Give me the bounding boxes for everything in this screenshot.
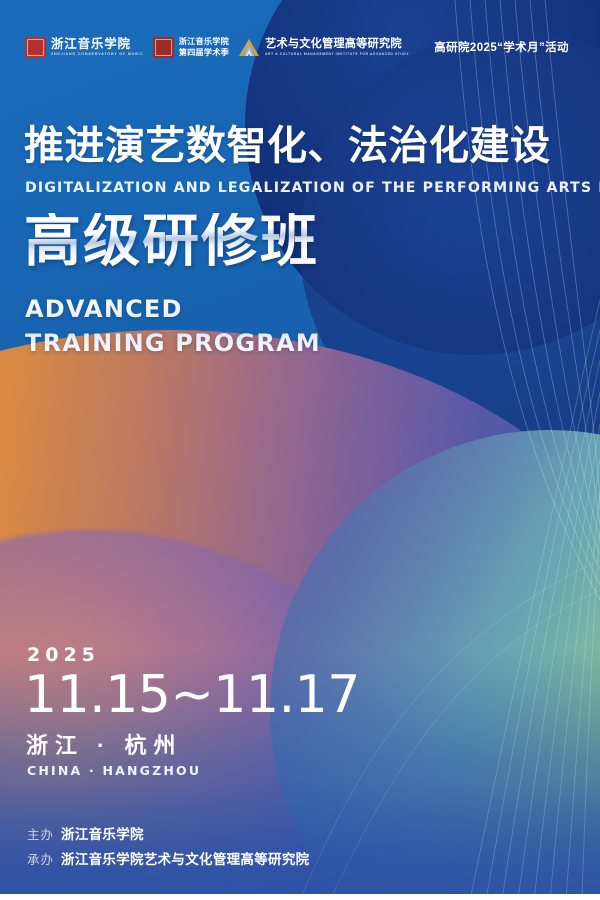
page-subtitle-en-line2: TRAINING PROGRAM (25, 326, 321, 360)
organizer-role: 主办 (27, 824, 54, 843)
poster-canvas: 浙江音乐学院 ZHEJIANG CONSERVATORY OF MUSIC 浙江… (0, 0, 600, 900)
seal-stamp-icon (153, 37, 174, 58)
logo-art-culture-institute-cn: 艺术与文化管理高等研究院 (265, 38, 409, 50)
triangle-arch-icon (238, 38, 260, 57)
logo-fourth-academic-season: 浙江音乐学院 第四届学术季 (153, 36, 229, 58)
event-city-en: CHINA · HANGZHOU (27, 765, 201, 778)
bottom-white-margin (0, 894, 600, 900)
logo-fourth-academic-season-line1: 浙江音乐学院 (179, 36, 229, 47)
logo-zhejiang-conservatory: 浙江音乐学院 ZHEJIANG CONSERVATORY OF MUSIC (25, 37, 144, 58)
page-subtitle-cn: 高级研修班 (24, 213, 319, 270)
page-subtitle-en: ADVANCED TRAINING PROGRAM (25, 292, 321, 360)
page-subtitle-en-line1: ADVANCED (25, 292, 321, 326)
page-title-cn: 推进演艺数智化、法治化建设 (24, 126, 551, 166)
organizer-row: 主办 浙江音乐学院 (27, 823, 309, 843)
logo-art-culture-institute: 艺术与文化管理高等研究院 ART & CULTURAL MANAGEMENT I… (238, 38, 409, 57)
poster-content: 浙江音乐学院 ZHEJIANG CONSERVATORY OF MUSIC 浙江… (0, 0, 600, 900)
logo-fourth-academic-season-line2: 第四届学术季 (179, 47, 229, 58)
organizer-name: 浙江音乐学院艺术与文化管理高等研究院 (61, 848, 309, 868)
organizer-role: 承办 (27, 849, 54, 868)
page-title-en: DIGITALIZATION AND LEGALIZATION OF THE P… (25, 180, 600, 196)
event-city-cn: 浙江 · 杭州 (26, 735, 183, 757)
header-bar: 浙江音乐学院 ZHEJIANG CONSERVATORY OF MUSIC 浙江… (25, 33, 569, 61)
logo-zhejiang-conservatory-en: ZHEJIANG CONSERVATORY OF MUSIC (51, 52, 144, 57)
event-year: 2025 (27, 646, 100, 665)
logo-fourth-academic-season-text: 浙江音乐学院 第四届学术季 (179, 36, 229, 58)
logo-zhejiang-conservatory-cn: 浙江音乐学院 (51, 37, 144, 50)
organizer-row: 承办 浙江音乐学院艺术与文化管理高等研究院 (27, 848, 309, 868)
header-event-tag: 高研院2025“学术月”活动 (434, 39, 569, 55)
seal-stamp-icon (25, 37, 46, 58)
organizer-name: 浙江音乐学院 (61, 823, 144, 843)
logo-art-culture-institute-en: ART & CULTURAL MANAGEMENT INSTITUTE FOR … (265, 52, 409, 56)
logo-zhejiang-conservatory-text: 浙江音乐学院 ZHEJIANG CONSERVATORY OF MUSIC (51, 37, 144, 56)
event-dates: 11.15~11.17 (24, 668, 360, 723)
logo-art-culture-institute-text: 艺术与文化管理高等研究院 ART & CULTURAL MANAGEMENT I… (265, 38, 409, 57)
organizer-list: 主办 浙江音乐学院 承办 浙江音乐学院艺术与文化管理高等研究院 (27, 823, 309, 873)
